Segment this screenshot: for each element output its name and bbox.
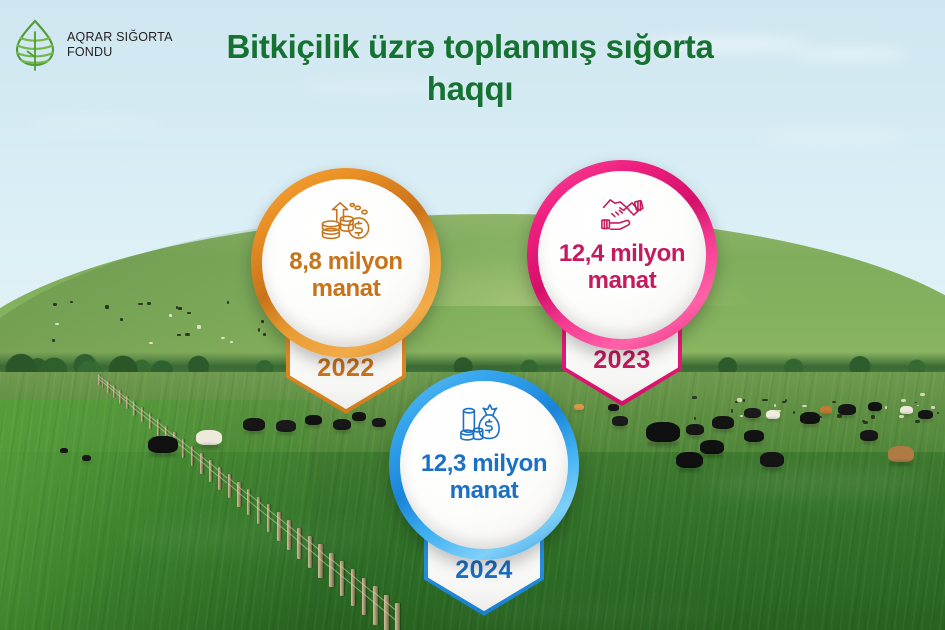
cow bbox=[868, 402, 882, 411]
distant-cow bbox=[817, 416, 822, 418]
brand-name: AQRAR SIĞORTA FONDU bbox=[67, 30, 173, 60]
cow bbox=[900, 406, 913, 414]
cow bbox=[646, 422, 680, 442]
distant-cow bbox=[915, 420, 920, 423]
distant-cow bbox=[920, 393, 925, 396]
distant-cow bbox=[105, 305, 108, 308]
distant-cow bbox=[197, 325, 201, 328]
distant-cow bbox=[227, 301, 230, 303]
distant-cow bbox=[757, 412, 760, 415]
badge-value-2024: 12,3 milyon manat bbox=[413, 451, 555, 505]
distant-cow bbox=[931, 406, 936, 410]
distant-cow bbox=[694, 417, 696, 420]
badge-circle-2023: 12,4 milyon manat bbox=[527, 160, 717, 350]
distant-cow bbox=[793, 411, 796, 414]
cow bbox=[860, 430, 878, 441]
cow bbox=[700, 440, 724, 454]
handshake-money-icon bbox=[596, 193, 648, 237]
distant-cow bbox=[221, 337, 224, 339]
distant-cow bbox=[937, 412, 939, 414]
value-amount: 12,4 milyon bbox=[559, 240, 685, 267]
value-unit: manat bbox=[588, 267, 657, 294]
distant-cow bbox=[55, 323, 59, 325]
distant-cow bbox=[149, 342, 154, 344]
cow bbox=[888, 446, 914, 462]
distant-cow bbox=[774, 404, 777, 407]
distant-cow bbox=[731, 409, 733, 412]
distant-cow bbox=[261, 320, 264, 323]
cow bbox=[918, 410, 933, 419]
distant-cow bbox=[263, 333, 265, 336]
value-amount: 8,8 milyon bbox=[289, 248, 402, 275]
cow bbox=[276, 420, 296, 432]
cow bbox=[82, 455, 91, 461]
year-label: 2023 bbox=[593, 346, 651, 375]
cow bbox=[333, 419, 351, 430]
cow bbox=[60, 448, 68, 453]
distant-cow bbox=[737, 398, 742, 401]
brand-logo: AQRAR SIĞORTA FONDU bbox=[12, 18, 173, 72]
cow bbox=[712, 416, 734, 429]
distant-cow bbox=[885, 406, 887, 409]
distant-cow bbox=[743, 399, 745, 402]
badge-circle-2024: 12,3 milyon manat bbox=[389, 370, 579, 560]
page-title: Bitkiçilik üzrə toplanmış sığorta haqqı bbox=[190, 26, 750, 109]
distant-cow bbox=[52, 339, 54, 342]
cow bbox=[196, 430, 222, 445]
distant-cow bbox=[138, 303, 143, 305]
cow bbox=[352, 412, 366, 421]
cow bbox=[612, 416, 628, 426]
cow bbox=[760, 452, 784, 467]
value-amount: 12,3 milyon bbox=[421, 450, 547, 477]
distant-cow bbox=[169, 314, 172, 317]
coins-growth-icon bbox=[320, 201, 372, 245]
distant-cow bbox=[776, 410, 781, 412]
distant-cow bbox=[70, 301, 73, 303]
distant-cow bbox=[901, 399, 906, 402]
distant-cow bbox=[871, 415, 875, 418]
cow bbox=[838, 404, 856, 415]
distant-cow bbox=[177, 334, 181, 336]
cow bbox=[800, 412, 820, 424]
distant-cow bbox=[802, 405, 807, 407]
cow bbox=[744, 430, 764, 442]
value-unit: manat bbox=[450, 477, 519, 504]
cow bbox=[148, 436, 178, 453]
distant-cow bbox=[740, 415, 743, 417]
distant-cow bbox=[185, 333, 189, 336]
distant-cow bbox=[147, 302, 151, 305]
cow bbox=[574, 404, 584, 410]
infographic-canvas: AQRAR SIĞORTA FONDU Bitkiçilik üzrə topl… bbox=[0, 0, 945, 630]
badge-circle-2022: 8,8 milyon manat bbox=[251, 168, 441, 358]
cow bbox=[243, 418, 265, 431]
cow bbox=[372, 418, 386, 427]
distant-cow bbox=[915, 402, 917, 404]
distant-cow bbox=[178, 307, 181, 309]
distant-cow bbox=[53, 303, 57, 306]
year-label: 2024 bbox=[455, 556, 513, 585]
cow bbox=[686, 424, 704, 435]
leaf-drop-icon bbox=[12, 18, 58, 72]
badge-value-2023: 12,4 milyon manat bbox=[551, 241, 693, 295]
distant-cow bbox=[782, 401, 786, 403]
distant-cow bbox=[120, 318, 123, 321]
cow bbox=[676, 452, 703, 468]
distant-cow bbox=[837, 414, 842, 417]
distant-cow bbox=[187, 312, 190, 314]
distant-cow bbox=[899, 415, 904, 419]
cow bbox=[305, 415, 322, 425]
distant-cow bbox=[692, 396, 697, 399]
money-bag-coins-icon bbox=[458, 403, 510, 447]
year-label: 2022 bbox=[317, 354, 375, 383]
badge-value-2022: 8,8 milyon manat bbox=[281, 249, 410, 303]
distant-cow bbox=[230, 341, 233, 343]
cow bbox=[608, 404, 619, 411]
distant-cow bbox=[258, 328, 261, 331]
distant-cow bbox=[762, 399, 767, 401]
cow bbox=[820, 406, 832, 414]
value-unit: manat bbox=[312, 275, 381, 302]
distant-cow bbox=[832, 401, 836, 404]
distant-cow bbox=[917, 405, 920, 407]
